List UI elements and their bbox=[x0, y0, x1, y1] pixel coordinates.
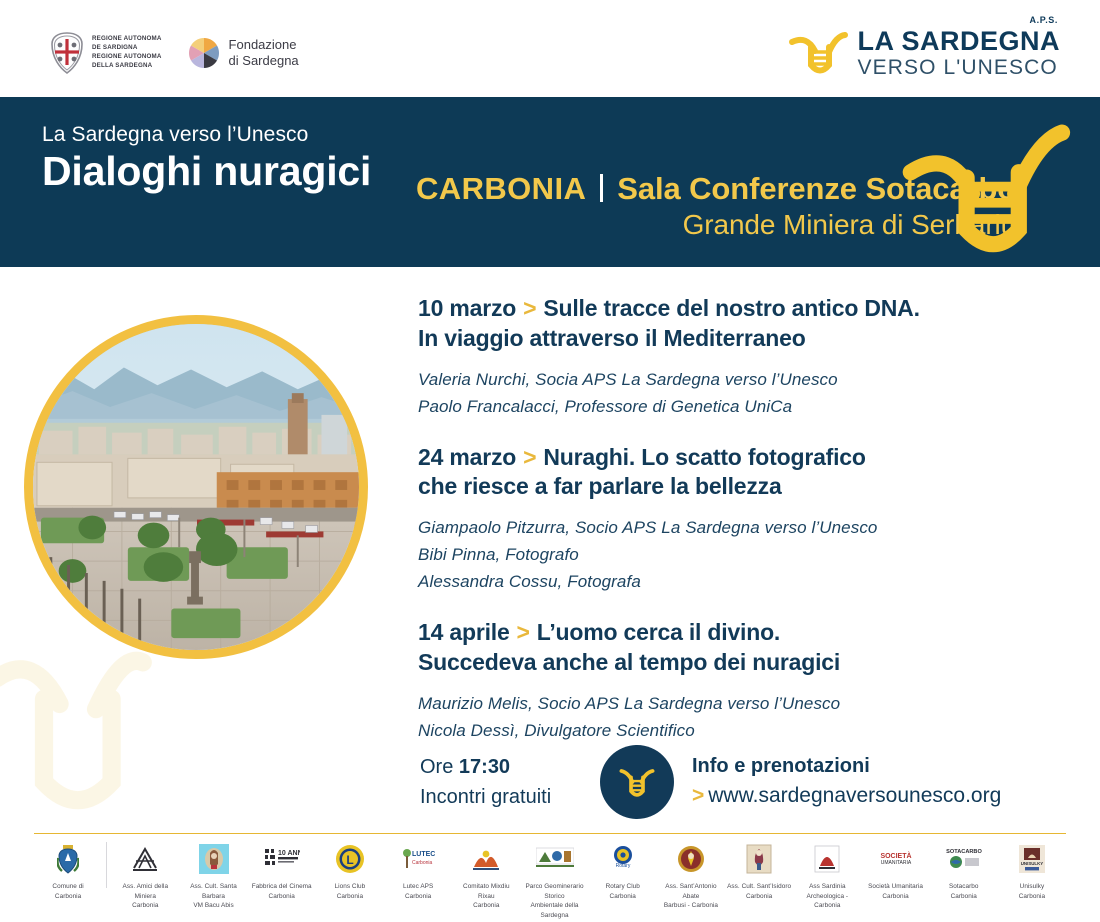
event-title-line1: Sulle tracce del nostro antico DNA. bbox=[543, 295, 919, 321]
sotacarbo-icon: SOTACARBO bbox=[946, 840, 982, 878]
speaker: Maurizio Melis, Socio APS La Sardegna ve… bbox=[418, 691, 1058, 718]
sponsor-item: UNISULKY Unisulky Carbonia bbox=[998, 840, 1066, 901]
title-banner: La Sardegna verso l’Unesco Dialoghi nura… bbox=[0, 97, 1100, 267]
svg-text:10 ANNI: 10 ANNI bbox=[278, 850, 300, 857]
sponsor-caption: Parco Geominerario Storico Ambientale de… bbox=[522, 882, 586, 920]
sponsor-caption: Unisulky Carbonia bbox=[1019, 882, 1045, 901]
website-link[interactable]: >www.sardegnaversounesco.org bbox=[692, 781, 1001, 811]
sponsor-separator bbox=[106, 842, 107, 888]
sponsor-caption: Ass Sardinia Archeologica - Carbonia bbox=[795, 882, 859, 911]
time-line: Ore 17:30 bbox=[420, 752, 600, 782]
sponsor-caption: Ass. Sant’Antonio Abate Barbusi - Carbon… bbox=[659, 882, 723, 911]
sardinia-arch-icon bbox=[813, 840, 841, 878]
svg-text:Carbonia: Carbonia bbox=[412, 860, 433, 866]
event-item: 24 marzo>Nuraghi. Lo scatto fotografico … bbox=[418, 443, 1058, 596]
sponsor-caption: Comitato Mixdiu Rixau Carbonia bbox=[454, 882, 518, 911]
brand-aps-label: A.P.S. bbox=[1030, 15, 1058, 25]
carbonia-photo bbox=[24, 315, 368, 659]
crest-icon bbox=[57, 840, 79, 878]
sponsor-caption: Rotary Club Carbonia bbox=[606, 882, 640, 901]
santa-barbara-icon bbox=[199, 840, 229, 878]
svg-text:SOTACARBO: SOTACARBO bbox=[946, 849, 982, 855]
svg-text:UMANITARIA: UMANITARIA bbox=[880, 860, 911, 866]
event-item: 10 marzo>Sulle tracce del nostro antico … bbox=[418, 294, 1058, 421]
sponsor-item: L Lions Club Carbonia bbox=[316, 840, 384, 901]
footer-info: Ore 17:30 Incontri gratuiti Info e preno… bbox=[420, 745, 1001, 819]
event-heading: 10 marzo>Sulle tracce del nostro antico … bbox=[418, 294, 1058, 354]
time-block: Ore 17:30 Incontri gratuiti bbox=[420, 752, 600, 812]
sponsor-caption: Ass. Cult. Sant’Isidoro Carbonia bbox=[727, 882, 791, 901]
info-title: Info e prenotazioni bbox=[692, 752, 1001, 781]
regione-sardegna-logo: REGIONE AUTONOMA DE SARDIGNA REGIONE AUT… bbox=[50, 32, 162, 74]
sponsor-caption: Lions Club Carbonia bbox=[335, 882, 366, 901]
brand-wordmark: A.P.S. LA SARDEGNA VERSO L'UNESCO bbox=[857, 24, 1060, 80]
speaker: Nicola Dessì, Divulgatore Scientifico bbox=[418, 718, 1058, 745]
sponsor-strip: Comune di Carbonia Ass. Amici della Mini… bbox=[34, 840, 1066, 920]
comitato-icon bbox=[471, 840, 501, 878]
lutec-icon: LUTEC Carbonia bbox=[401, 840, 435, 878]
event-item: 14 aprile>L’uomo cerca il divino. Succed… bbox=[418, 618, 1058, 745]
parco-icon bbox=[536, 840, 574, 878]
website-url: www.sardegnaversounesco.org bbox=[708, 784, 1001, 807]
event-title-line1: Nuraghi. Lo scatto fotografico bbox=[543, 444, 865, 470]
event-title-line1: L’uomo cerca il divino. bbox=[537, 619, 780, 645]
sponsor-item: SOCIETÀ UMANITARIA Società Umanitaria Ca… bbox=[861, 840, 929, 901]
arrow-icon: > bbox=[516, 295, 543, 321]
speaker: Bibi Pinna, Fotografo bbox=[418, 542, 1058, 569]
event-date: 24 marzo bbox=[418, 444, 516, 470]
time-value: 17:30 bbox=[459, 756, 510, 778]
svg-text:UNISULKY: UNISULKY bbox=[1021, 861, 1044, 866]
event-speakers: Valeria Nurchi, Socia APS La Sardegna ve… bbox=[418, 367, 1058, 421]
sponsor-divider bbox=[34, 833, 1066, 834]
event-date: 14 aprile bbox=[418, 619, 510, 645]
svg-text:Rotary: Rotary bbox=[615, 863, 630, 869]
contact-block: Info e prenotazioni >www.sardegnaversoun… bbox=[692, 752, 1001, 811]
brand-line1: LA SARDEGNA bbox=[857, 28, 1060, 55]
miniera-icon bbox=[130, 840, 160, 878]
sponsor-caption: Società Umanitaria Carbonia bbox=[868, 882, 923, 901]
fondazione-line1: Fondazione bbox=[229, 37, 299, 53]
event-heading: 14 aprile>L’uomo cerca il divino. Succed… bbox=[418, 618, 1058, 678]
sponsor-caption: Fabbrica del Cinema Carbonia bbox=[252, 882, 312, 901]
sponsor-item: Comune di Carbonia bbox=[34, 840, 102, 901]
santantonio-icon bbox=[677, 840, 705, 878]
svg-text:L: L bbox=[346, 853, 353, 867]
svg-text:SOCIETÀ: SOCIETÀ bbox=[880, 851, 911, 860]
free-entry-label: Incontri gratuiti bbox=[420, 782, 600, 812]
event-speakers: Giampaolo Pitzurra, Socio APS La Sardegn… bbox=[418, 515, 1058, 596]
umanitaria-icon: SOCIETÀ UMANITARIA bbox=[879, 840, 913, 878]
ras-line4: DELLA SARDEGNA bbox=[92, 62, 162, 71]
sponsor-item: Ass. Cult. Santa Barbara VM Bacu Abis bbox=[179, 840, 247, 911]
ras-line1: REGIONE AUTONOMA bbox=[92, 35, 162, 44]
sponsor-caption: Ass. Cult. Santa Barbara VM Bacu Abis bbox=[181, 882, 245, 911]
top-logo-bar: REGIONE AUTONOMA DE SARDIGNA REGIONE AUT… bbox=[0, 0, 1100, 97]
sponsor-caption: Ass. Amici della Miniera Carbonia bbox=[113, 882, 177, 911]
speaker: Paolo Francalacci, Professore di Genetic… bbox=[418, 394, 1058, 421]
sponsor-caption: Comune di Carbonia bbox=[52, 882, 83, 901]
aerial-city-illustration bbox=[33, 324, 359, 650]
rotary-icon: Rotary bbox=[606, 840, 640, 878]
event-speakers: Maurizio Melis, Socio APS La Sardegna ve… bbox=[418, 691, 1058, 745]
sponsor-item: 10 ANNI Fabbrica del Cinema Carbonia bbox=[248, 840, 316, 901]
ras-line3: REGIONE AUTONOMA bbox=[92, 53, 162, 62]
lions-icon: L bbox=[335, 840, 365, 878]
speaker: Giampaolo Pitzurra, Socio APS La Sardegn… bbox=[418, 515, 1058, 542]
banner-supertitle: La Sardegna verso l’Unesco bbox=[42, 123, 371, 147]
banner-city: CARBONIA bbox=[416, 171, 586, 207]
sponsor-item: Parco Geominerario Storico Ambientale de… bbox=[520, 840, 588, 920]
cinema-icon: 10 ANNI bbox=[264, 840, 300, 878]
sponsor-item: Ass. Amici della Miniera Carbonia bbox=[111, 840, 179, 911]
arrow-icon: > bbox=[516, 444, 543, 470]
brand-line2: VERSO L'UNESCO bbox=[857, 56, 1060, 80]
arrow-icon: > bbox=[510, 619, 537, 645]
event-title-line2: che riesce a far parlare la bellezza bbox=[418, 473, 782, 499]
sponsor-item: Ass. Cult. Sant’Isidoro Carbonia bbox=[725, 840, 793, 901]
sponsor-item: SOTACARBO Sotacarbo Carbonia bbox=[930, 840, 998, 901]
sponsor-item: Ass. Sant’Antonio Abate Barbusi - Carbon… bbox=[657, 840, 725, 911]
la-sardegna-verso-unesco-logo: A.P.S. LA SARDEGNA VERSO L'UNESCO bbox=[787, 24, 1060, 80]
sponsor-item: Ass Sardinia Archeologica - Carbonia bbox=[793, 840, 861, 911]
nuraghe-badge-icon bbox=[614, 759, 660, 805]
color-wheel-icon bbox=[188, 37, 220, 69]
event-title-line2: In viaggio attraverso il Mediterraneo bbox=[418, 325, 806, 351]
event-heading: 24 marzo>Nuraghi. Lo scatto fotografico … bbox=[418, 443, 1058, 503]
fondazione-di-sardegna-logo: Fondazione di Sardegna bbox=[188, 37, 299, 70]
sponsor-caption: Lutec APS Carbonia bbox=[403, 882, 433, 901]
sponsor-caption: Sotacarbo Carbonia bbox=[949, 882, 979, 901]
banner-titles: La Sardegna verso l’Unesco Dialoghi nura… bbox=[42, 123, 371, 195]
santisidoro-icon bbox=[746, 840, 772, 878]
event-date: 10 marzo bbox=[418, 295, 516, 321]
fondazione-wordmark: Fondazione di Sardegna bbox=[229, 37, 299, 70]
sponsor-item: LUTEC Carbonia Lutec APS Carbonia bbox=[384, 840, 452, 901]
speaker: Valeria Nurchi, Socia APS La Sardegna ve… bbox=[418, 367, 1058, 394]
ras-line2: DE SARDIGNA bbox=[92, 44, 162, 53]
svg-text:LUTEC: LUTEC bbox=[412, 851, 435, 858]
institutional-logos: REGIONE AUTONOMA DE SARDIGNA REGIONE AUT… bbox=[50, 32, 299, 74]
regione-sardegna-wordmark: REGIONE AUTONOMA DE SARDIGNA REGIONE AUT… bbox=[92, 35, 162, 71]
banner-divider bbox=[600, 174, 603, 202]
time-label: Ore bbox=[420, 756, 453, 778]
sponsor-item: Rotary Rotary Club Carbonia bbox=[589, 840, 657, 901]
banner-title: Dialoghi nuragici bbox=[42, 149, 371, 195]
unisulky-icon: UNISULKY bbox=[1018, 840, 1046, 878]
event-title-line2: Succedeva anche al tempo dei nuragici bbox=[418, 649, 840, 675]
event-poster: REGIONE AUTONOMA DE SARDIGNA REGIONE AUT… bbox=[0, 0, 1100, 922]
speaker: Alessandra Cossu, Fotografa bbox=[418, 569, 1058, 596]
sponsor-item: Comitato Mixdiu Rixau Carbonia bbox=[452, 840, 520, 911]
nuraghe-banner-icon bbox=[900, 97, 1080, 267]
fondazione-line2: di Sardegna bbox=[229, 53, 299, 69]
sardinia-crest-icon bbox=[50, 32, 84, 74]
nuraghe-brand-icon bbox=[787, 25, 851, 79]
programme-list: 10 marzo>Sulle tracce del nostro antico … bbox=[418, 294, 1058, 766]
arrow-icon: > bbox=[692, 784, 704, 807]
nuraghe-badge bbox=[600, 745, 674, 819]
